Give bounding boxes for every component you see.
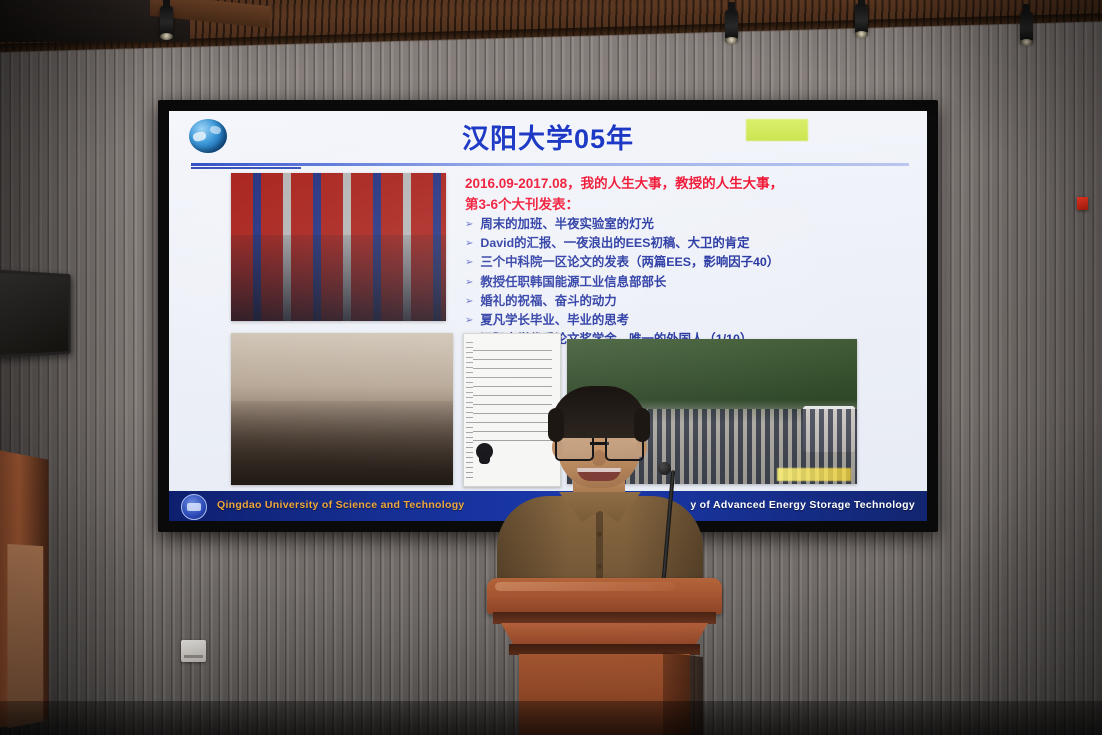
scene-vignette: [0, 0, 1102, 735]
lecture-hall-scene: 汉阳大学05年 2016.09-2017.08，我的人生大事，教授的人生大事， …: [0, 0, 1102, 735]
